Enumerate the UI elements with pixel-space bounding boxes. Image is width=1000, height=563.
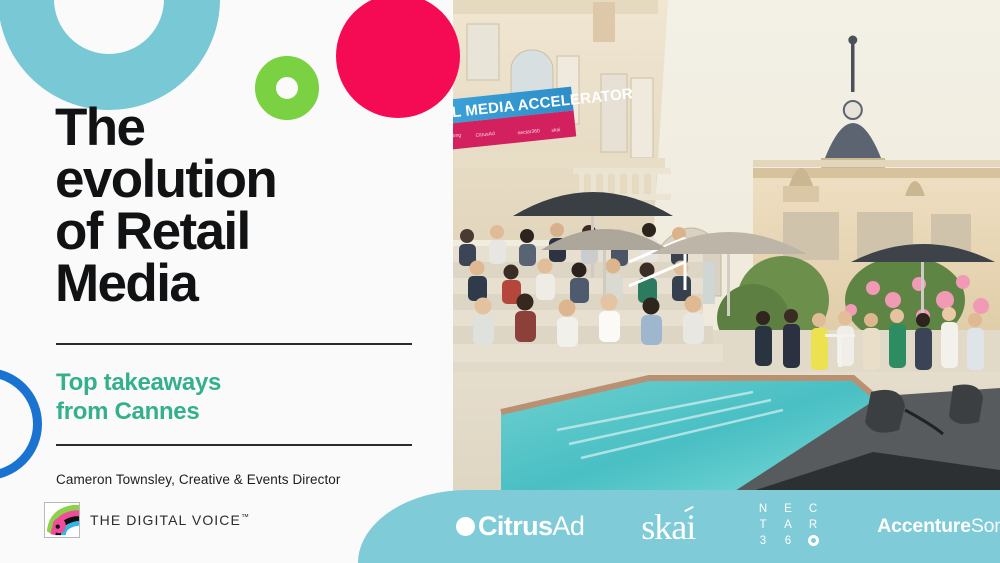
nectar-letter: C: [805, 504, 821, 516]
accenture-bold-text: Accenture: [877, 515, 971, 538]
citrusad-dot-icon: [456, 517, 475, 536]
author-byline: Cameron Townsley, Creative & Events Dire…: [56, 472, 341, 487]
brand-lockup: THE DIGITAL VOICE™: [44, 502, 249, 538]
citrusad-bold-text: Citrus: [478, 511, 552, 542]
nectar-letter: A: [780, 520, 796, 532]
divider-top: [56, 343, 412, 345]
nectar-letter: 3: [755, 536, 771, 548]
title-pane: The evolution of Retail Media Top takeaw…: [0, 0, 453, 563]
logo-accenture-song: Accenture Song: [877, 515, 1000, 538]
logo-skai: skai: [641, 506, 695, 548]
presentation-slide: RETAIL MEDIA ACCELERATOR Accenture Song …: [0, 0, 1000, 563]
logo-nectar360: N E C T A R 3 6: [755, 504, 821, 549]
nectar-letter: 6: [780, 536, 796, 548]
citrusad-light-text: Ad: [552, 511, 584, 542]
partner-logo-bar: CitrusAd skai N E C T A R 3 6 Accenture …: [358, 490, 1000, 563]
page-title: The evolution of Retail Media: [55, 102, 415, 310]
subtitle: Top takeaways from Cannes: [56, 368, 416, 427]
nectar-letter: R: [805, 520, 821, 532]
nectar-letter: N: [755, 504, 771, 516]
event-photo: RETAIL MEDIA ACCELERATOR Accenture Song …: [453, 0, 1000, 500]
nectar-zero-ring-icon: [805, 535, 821, 549]
trademark-symbol: ™: [241, 512, 249, 521]
nectar-letter: E: [780, 504, 796, 516]
nectar-letter: T: [755, 520, 771, 532]
skai-text: skai: [641, 506, 695, 548]
svg-text:skai: skai: [551, 127, 560, 134]
divider-bottom: [56, 444, 412, 446]
accenture-song-text: Song: [971, 515, 1000, 538]
the-digital-voice-logo-icon: [44, 502, 80, 538]
brand-name: THE DIGITAL VOICE™: [90, 512, 249, 528]
logo-citrusad: CitrusAd: [456, 511, 584, 542]
